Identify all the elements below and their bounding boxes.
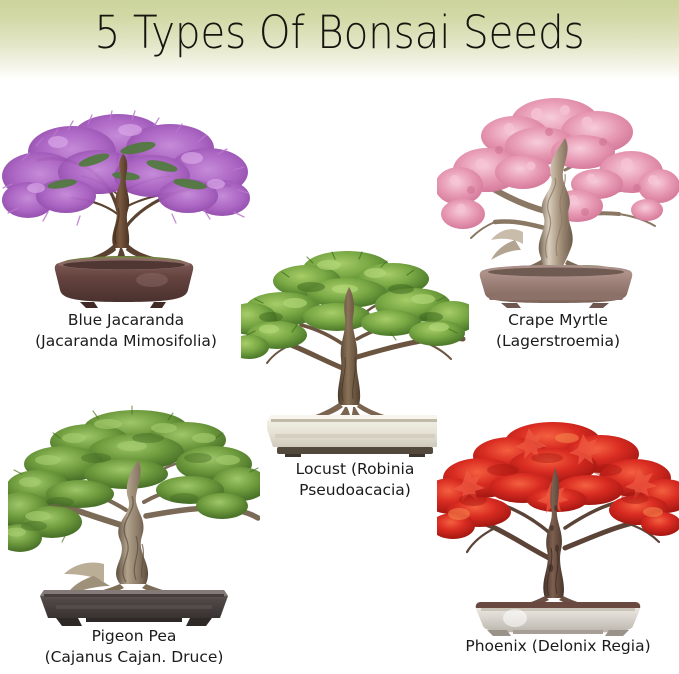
bonsai-label-blue-jacaranda: Blue Jacaranda (Jacaranda Mimosifolia) (2, 310, 250, 352)
bonsai-seed-types-infographic: 5 Types Of Bonsai Seeds (0, 0, 679, 674)
bonsai-label-phoenix: Phoenix (Delonix Regia) (437, 636, 679, 657)
bonsai-label-pigeon-pea: Pigeon Pea (Cajanus Cajan. Druce) (8, 626, 260, 668)
page-title: 5 Types Of Bonsai Seeds (34, 6, 645, 59)
crape-myrtle-image (437, 80, 679, 308)
bonsai-card-crape-myrtle: Crape Myrtle (Lagerstroemia) (437, 80, 679, 352)
locust-image (241, 229, 469, 457)
bonsai-label-crape-myrtle: Crape Myrtle (Lagerstroemia) (437, 310, 679, 352)
pigeon-pea-image (8, 398, 260, 626)
blue-jacaranda-image (2, 80, 250, 308)
bonsai-card-locust: Locust (Robinia Pseudoacacia) (241, 229, 469, 501)
bonsai-card-blue-jacaranda: Blue Jacaranda (Jacaranda Mimosifolia) (2, 80, 250, 352)
phoenix-image (437, 408, 679, 636)
bonsai-label-locust: Locust (Robinia Pseudoacacia) (241, 459, 469, 501)
bonsai-card-phoenix: Phoenix (Delonix Regia) (437, 408, 679, 657)
bonsai-card-pigeon-pea: Pigeon Pea (Cajanus Cajan. Druce) (8, 398, 260, 668)
